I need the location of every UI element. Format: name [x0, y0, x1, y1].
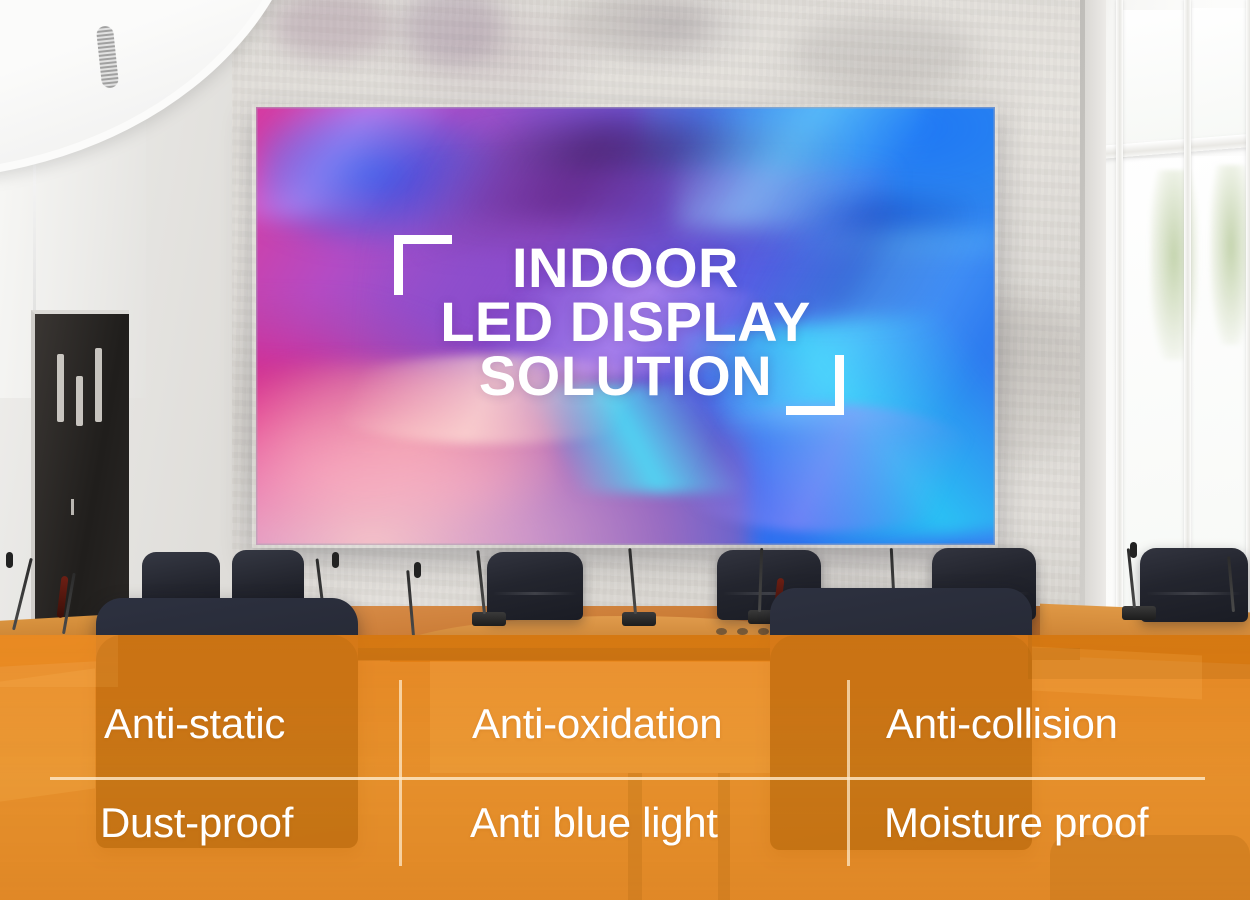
feature-dust-proof: Dust-proof: [100, 799, 293, 847]
feature-moisture-proof: Moisture proof: [884, 799, 1148, 847]
feature-anti-blue-light: Anti blue light: [470, 799, 718, 847]
screenshot-canvas: INDOOR LED DISPLAY SOLUTION: [0, 0, 1250, 900]
horizontal-divider: [50, 777, 1205, 780]
features-grid: [0, 0, 1250, 900]
vertical-divider-left: [399, 680, 402, 866]
feature-anti-oxidation: Anti-oxidation: [472, 700, 722, 748]
feature-anti-static: Anti-static: [104, 700, 285, 748]
feature-anti-collision: Anti-collision: [886, 700, 1118, 748]
vertical-divider-right: [847, 680, 850, 866]
